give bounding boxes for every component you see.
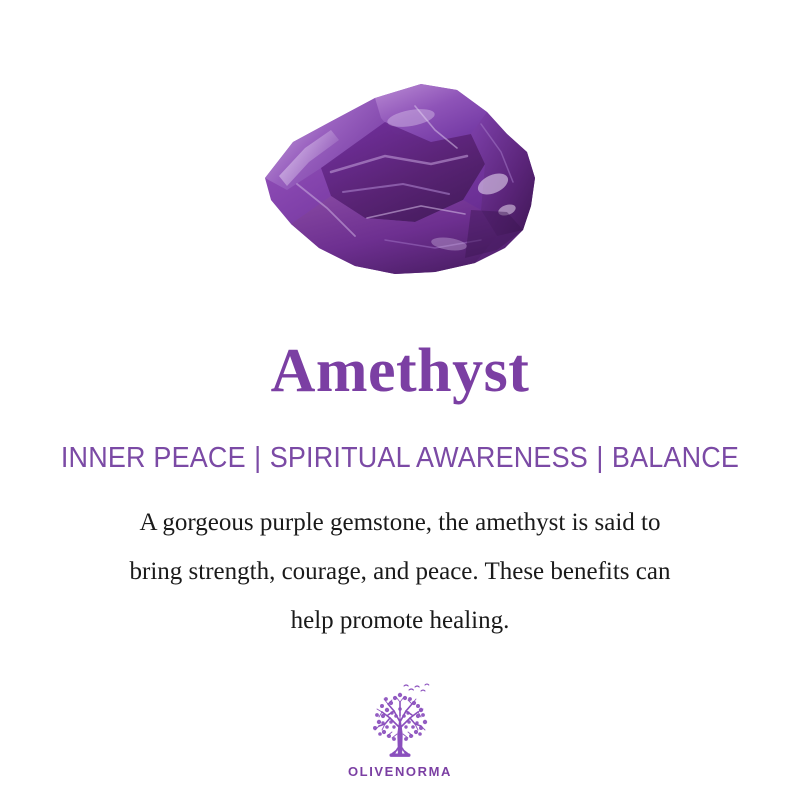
tree-of-life-icon xyxy=(361,682,439,762)
keyword-balance: BALANCE xyxy=(612,441,739,475)
raw-amethyst-crystal-image xyxy=(235,60,565,290)
description-text: A gorgeous purple gemstone, the amethyst… xyxy=(50,498,750,645)
description-line-3: help promote healing. xyxy=(50,596,750,645)
description-line-1: A gorgeous purple gemstone, the amethyst… xyxy=(50,498,750,547)
gemstone-image-area xyxy=(0,60,800,310)
keyword-separator-1: | xyxy=(246,441,270,475)
page-title: Amethyst xyxy=(0,337,800,405)
keyword-inner-peace: INNER PEACE xyxy=(61,441,246,475)
amethyst-info-card: Amethyst INNER PEACE|SPIRITUAL AWARENESS… xyxy=(0,0,800,800)
birds-icon xyxy=(404,684,429,691)
keyword-spiritual-awareness: SPIRITUAL AWARENESS xyxy=(270,441,588,475)
brand-name: OLIVENORMA xyxy=(0,764,800,779)
keyword-list: INNER PEACE|SPIRITUAL AWARENESS|BALANCE xyxy=(28,441,772,475)
keyword-separator-2: | xyxy=(588,441,612,475)
brand-logo: OLIVENORMA xyxy=(0,682,800,779)
description-line-2: bring strength, courage, and peace. Thes… xyxy=(50,547,750,596)
